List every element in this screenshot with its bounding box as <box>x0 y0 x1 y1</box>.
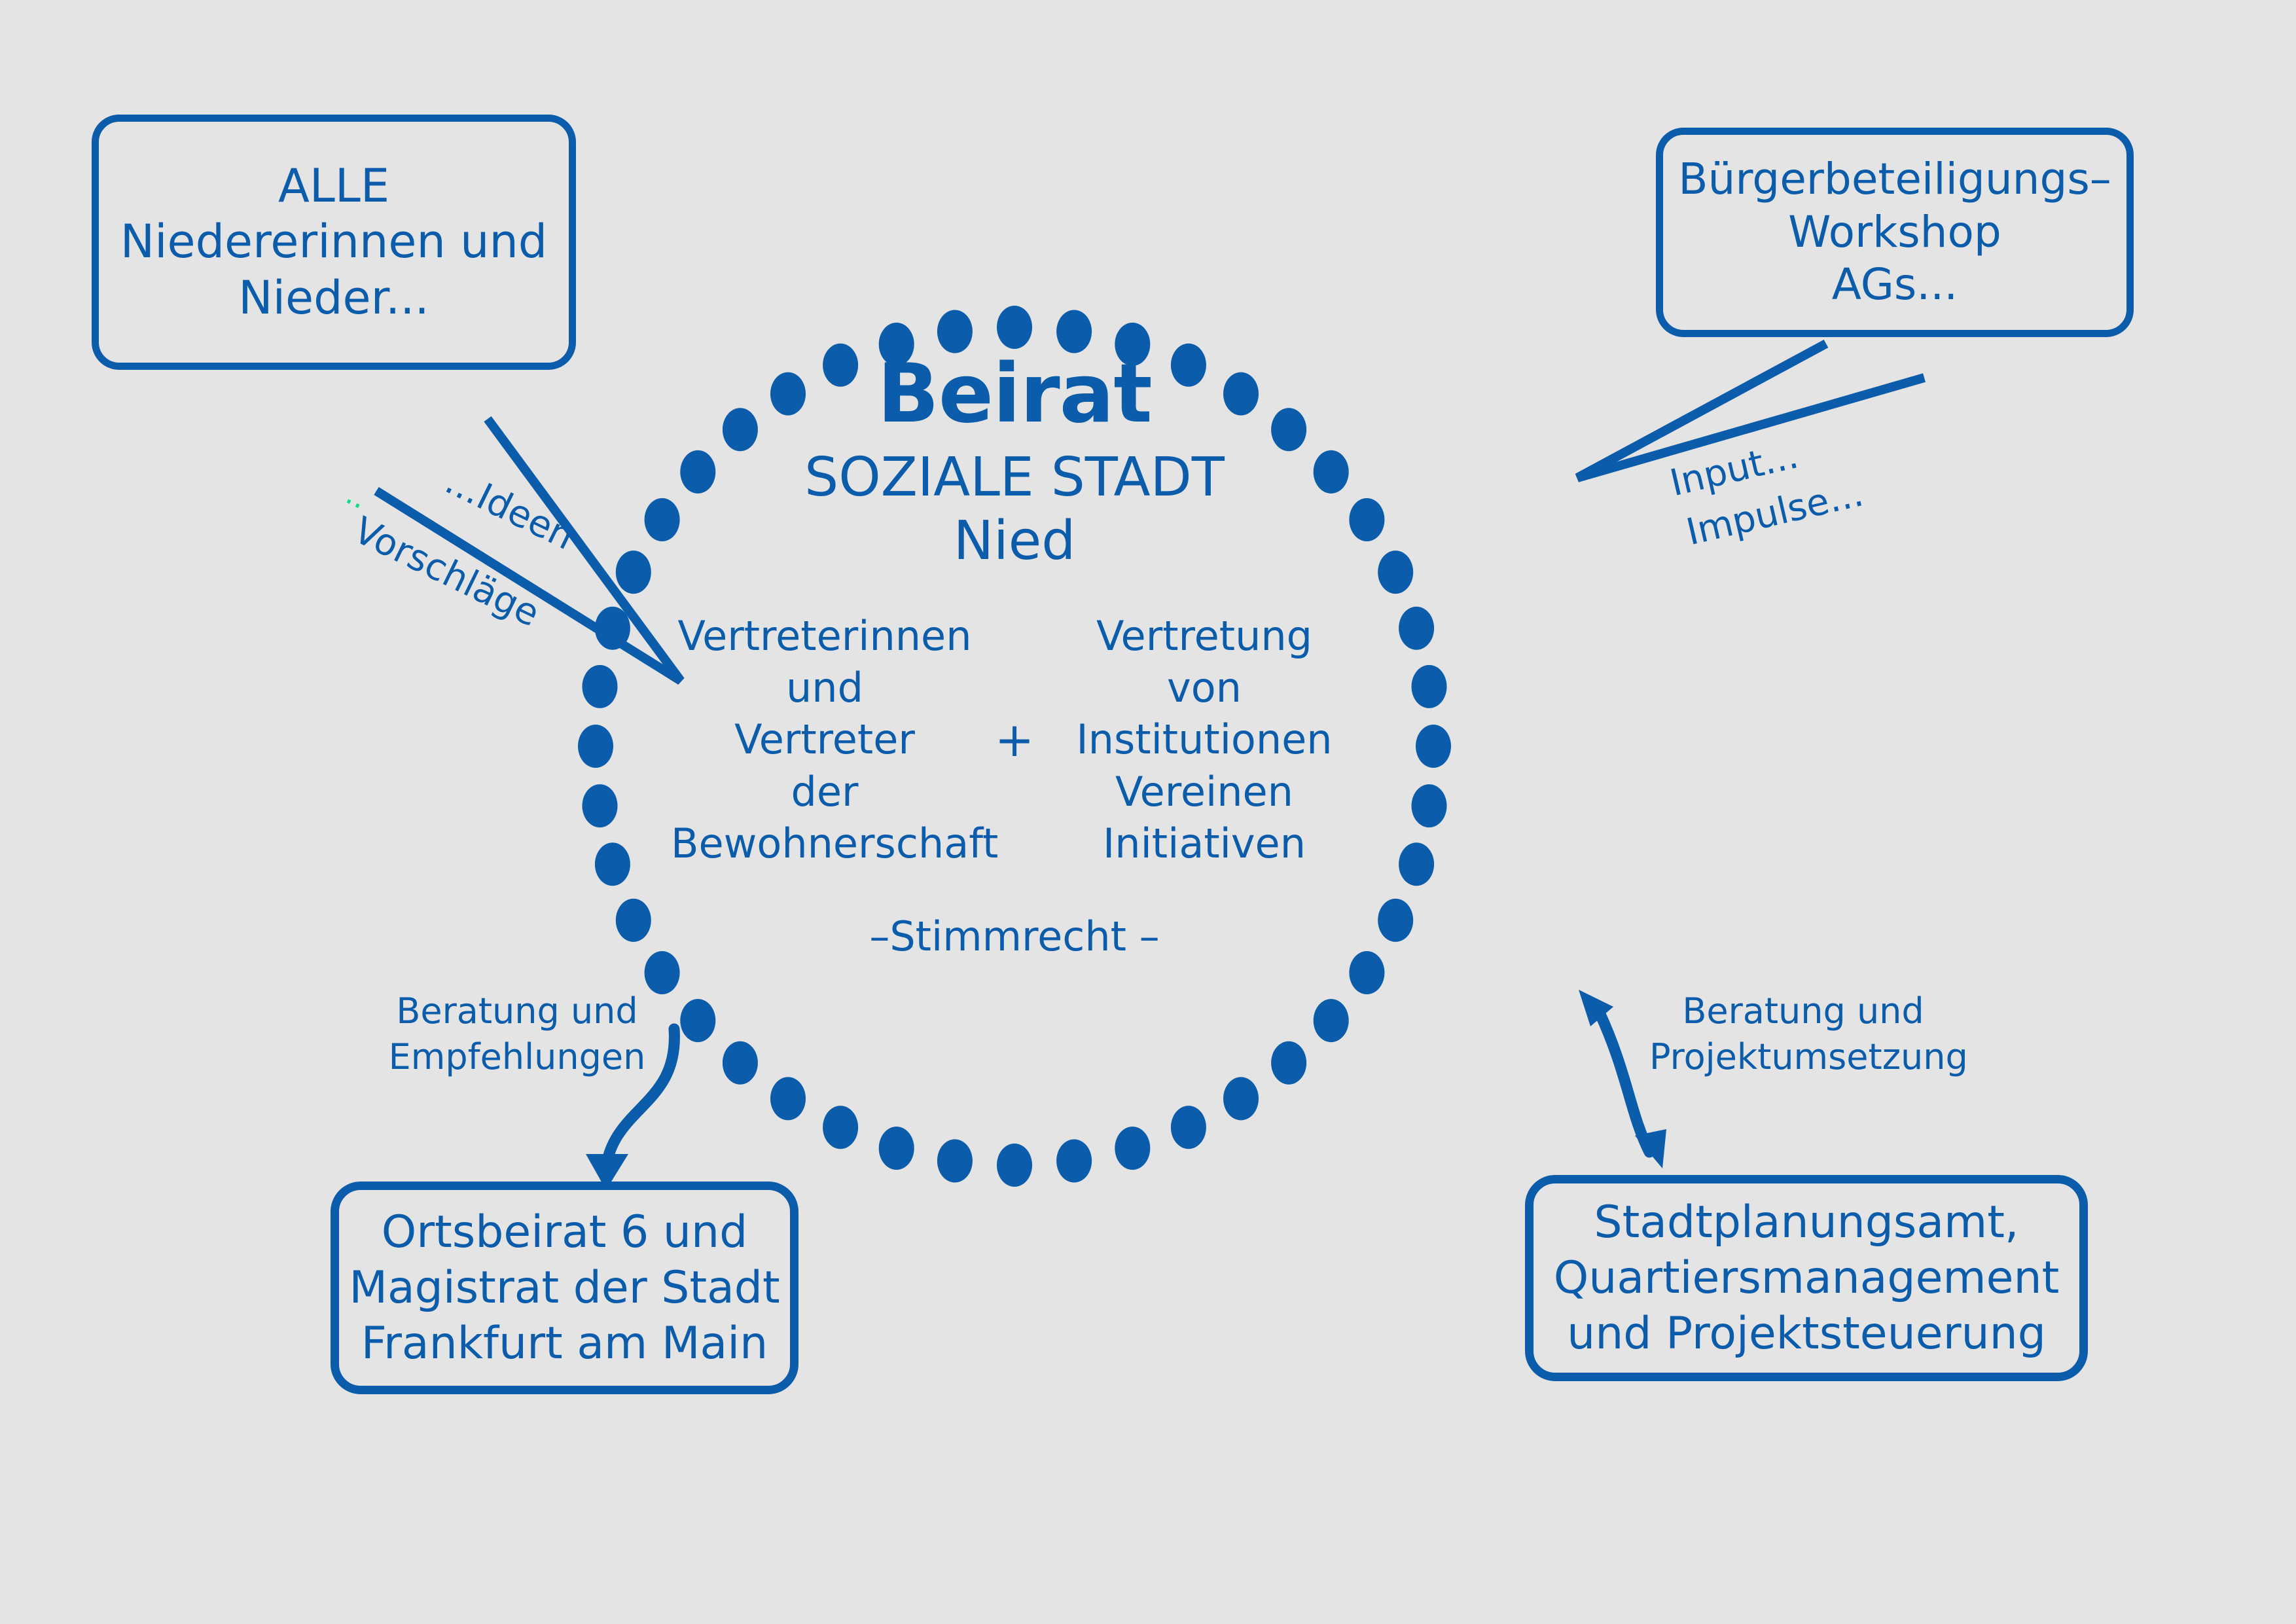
circle-dot <box>1223 1077 1259 1120</box>
circle-dot <box>583 784 618 827</box>
circle-dot <box>997 306 1032 349</box>
diagram-canvas: ALLE Niedererinnen und Nieder... Bürgerb… <box>0 0 2296 1624</box>
speech-bubble-alle-text: ALLE Niedererinnen und Nieder... <box>120 158 548 326</box>
speech-bubble-buergerbeteiligung: Bürgerbeteiligungs– Workshop AGs... <box>1656 128 2134 337</box>
circle-dot <box>723 1041 758 1085</box>
circle-dot <box>997 1144 1032 1187</box>
box-stadtplanungsamt: Stadtplanungsamt, Quartiersmanagement un… <box>1525 1175 2088 1381</box>
circle-dot <box>1399 607 1434 650</box>
circle-dot <box>578 725 613 768</box>
dotted-circle <box>578 306 1451 1187</box>
speech-bubble-buergerbeteiligung-text: Bürgerbeteiligungs– Workshop AGs... <box>1678 153 2111 312</box>
circle-dot <box>1314 999 1349 1042</box>
circle-dot <box>1349 951 1384 994</box>
circle-dot <box>583 665 618 708</box>
box-stadtplanungsamt-text: Stadtplanungsamt, Quartiersmanagement un… <box>1554 1195 2060 1362</box>
circle-dot <box>680 999 715 1042</box>
circle-dot <box>823 344 858 387</box>
circle-dot <box>823 1106 858 1149</box>
arrow-right-head-down <box>1635 1129 1666 1168</box>
circle-dot <box>1378 899 1413 942</box>
circle-dot <box>1223 372 1259 416</box>
circle-dot <box>1271 1041 1306 1085</box>
circle-dot <box>595 842 630 886</box>
circle-dot <box>937 310 973 353</box>
arrow-right-curve <box>1599 1011 1649 1152</box>
circle-dot <box>1378 550 1413 594</box>
circle-dot <box>1349 498 1384 541</box>
circle-dot <box>1171 1106 1206 1149</box>
circle-dot <box>879 323 914 366</box>
circle-dot <box>1416 725 1451 768</box>
circle-dot <box>616 899 651 942</box>
circle-dot <box>1412 784 1447 827</box>
annotation-beratung-projektumsetzung: Beratung und Projektumsetzung <box>1649 988 1957 1080</box>
circle-dot <box>1056 310 1092 353</box>
circle-dot <box>1115 1127 1150 1170</box>
annotation-beratung-empfehlungen: Beratung und Empfehlungen <box>380 988 655 1080</box>
speech-bubble-alle-niedererinnen: ALLE Niedererinnen und Nieder... <box>92 115 576 370</box>
circle-dot <box>1171 344 1206 387</box>
circle-dot <box>937 1140 973 1183</box>
circle-dot <box>1115 323 1150 366</box>
box-ortsbeirat-text: Ortsbeirat 6 und Magistrat der Stadt Fra… <box>349 1204 780 1371</box>
circle-dot <box>1412 665 1447 708</box>
circle-dot <box>1399 842 1434 886</box>
circle-dot <box>1314 450 1349 494</box>
circle-dot <box>770 372 806 416</box>
circle-dot <box>616 550 651 594</box>
box-ortsbeirat-magistrat: Ortsbeirat 6 und Magistrat der Stadt Fra… <box>331 1182 798 1394</box>
circle-dot <box>723 408 758 451</box>
circle-dot <box>770 1077 806 1120</box>
circle-dot <box>1271 408 1306 451</box>
circle-dot <box>645 498 680 541</box>
circle-dot <box>680 450 715 494</box>
circle-dot <box>1056 1140 1092 1183</box>
circle-dot <box>879 1127 914 1170</box>
